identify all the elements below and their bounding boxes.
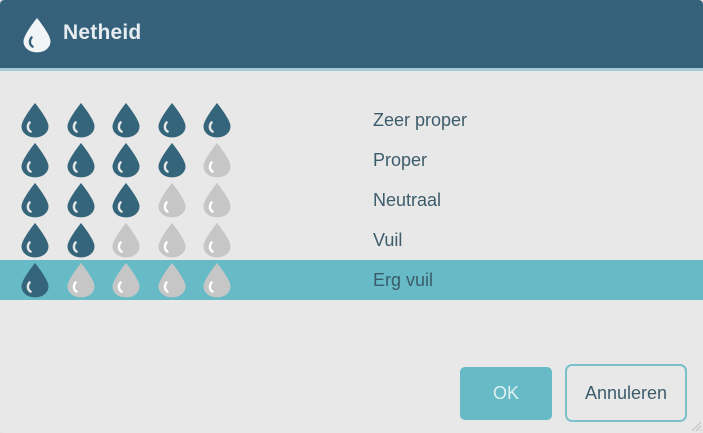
resize-handle[interactable] bbox=[688, 418, 702, 432]
droplet-icon bbox=[66, 142, 96, 178]
droplet-icon bbox=[66, 102, 96, 138]
droplet-cell[interactable] bbox=[66, 102, 112, 138]
droplet-cell[interactable] bbox=[66, 142, 112, 178]
droplet-cell[interactable] bbox=[157, 142, 203, 178]
droplet-icon bbox=[66, 222, 96, 258]
droplet-icon bbox=[202, 262, 232, 298]
droplet-cell[interactable] bbox=[157, 102, 203, 138]
option-row[interactable]: Proper bbox=[0, 140, 703, 180]
droplet-icon bbox=[111, 262, 141, 298]
ok-button[interactable]: OK bbox=[460, 367, 552, 420]
option-label: Vuil bbox=[373, 230, 402, 251]
option-row-content: Neutraal bbox=[20, 180, 685, 220]
droplet-cell[interactable] bbox=[20, 102, 66, 138]
option-row[interactable]: Neutraal bbox=[0, 180, 703, 220]
droplet-cell[interactable] bbox=[157, 262, 203, 298]
droplet-icon bbox=[157, 142, 187, 178]
droplet-cell[interactable] bbox=[111, 182, 157, 218]
droplet-cell[interactable] bbox=[157, 182, 203, 218]
droplet-cell[interactable] bbox=[20, 222, 66, 258]
option-row[interactable]: Erg vuil bbox=[0, 260, 703, 300]
droplet-rating bbox=[20, 262, 248, 298]
droplet-icon bbox=[157, 102, 187, 138]
title-bar: Netheid bbox=[0, 0, 703, 68]
droplet-icon bbox=[66, 262, 96, 298]
droplet-rating bbox=[20, 222, 248, 258]
droplet-icon bbox=[111, 182, 141, 218]
option-row[interactable]: Vuil bbox=[0, 220, 703, 260]
droplet-icon bbox=[20, 182, 50, 218]
droplet-cell[interactable] bbox=[202, 102, 248, 138]
droplet-icon bbox=[111, 102, 141, 138]
droplet-icon bbox=[20, 102, 50, 138]
droplet-icon bbox=[202, 102, 232, 138]
droplet-icon bbox=[202, 182, 232, 218]
droplet-icon bbox=[157, 222, 187, 258]
droplet-cell[interactable] bbox=[111, 142, 157, 178]
droplet-icon bbox=[20, 142, 50, 178]
droplet-icon bbox=[111, 142, 141, 178]
droplet-rating bbox=[20, 102, 248, 138]
droplet-cell[interactable] bbox=[20, 142, 66, 178]
option-row[interactable]: Zeer proper bbox=[0, 100, 703, 140]
droplet-icon bbox=[66, 182, 96, 218]
option-label: Neutraal bbox=[373, 190, 441, 211]
droplet-cell[interactable] bbox=[20, 262, 66, 298]
droplet-rating bbox=[20, 182, 248, 218]
droplet-cell[interactable] bbox=[202, 262, 248, 298]
droplet-icon bbox=[20, 222, 50, 258]
droplet-cell[interactable] bbox=[157, 222, 203, 258]
cleanliness-options-list: Zeer properProperNeutraalVuilErg vuil bbox=[0, 100, 703, 300]
droplet-icon bbox=[202, 142, 232, 178]
droplet-cell[interactable] bbox=[202, 182, 248, 218]
droplet-cell[interactable] bbox=[66, 262, 112, 298]
cancel-button[interactable]: Annuleren bbox=[565, 364, 687, 422]
droplet-icon bbox=[20, 262, 50, 298]
droplet-cell[interactable] bbox=[66, 222, 112, 258]
droplet-cell[interactable] bbox=[111, 222, 157, 258]
button-bar: OK Annuleren bbox=[0, 360, 703, 433]
page-title: Netheid bbox=[63, 21, 141, 45]
droplet-cell[interactable] bbox=[111, 262, 157, 298]
cleanliness-dialog: Netheid Zeer properProperNeutraalVuilErg… bbox=[0, 0, 703, 433]
droplet-rating bbox=[20, 142, 248, 178]
droplet-icon bbox=[157, 182, 187, 218]
droplet-icon bbox=[157, 262, 187, 298]
option-row-content: Erg vuil bbox=[20, 260, 685, 300]
option-row-content: Zeer proper bbox=[20, 100, 685, 140]
option-label: Proper bbox=[373, 150, 427, 171]
divider bbox=[0, 68, 703, 71]
option-label: Zeer proper bbox=[373, 110, 467, 131]
option-row-content: Vuil bbox=[20, 220, 685, 260]
option-label: Erg vuil bbox=[373, 270, 433, 291]
droplet-cell[interactable] bbox=[202, 142, 248, 178]
droplet-cell[interactable] bbox=[111, 102, 157, 138]
droplet-icon bbox=[111, 222, 141, 258]
option-row-content: Proper bbox=[20, 140, 685, 180]
droplet-icon bbox=[22, 17, 52, 53]
droplet-cell[interactable] bbox=[202, 222, 248, 258]
droplet-icon bbox=[202, 222, 232, 258]
droplet-cell[interactable] bbox=[66, 182, 112, 218]
droplet-cell[interactable] bbox=[20, 182, 66, 218]
